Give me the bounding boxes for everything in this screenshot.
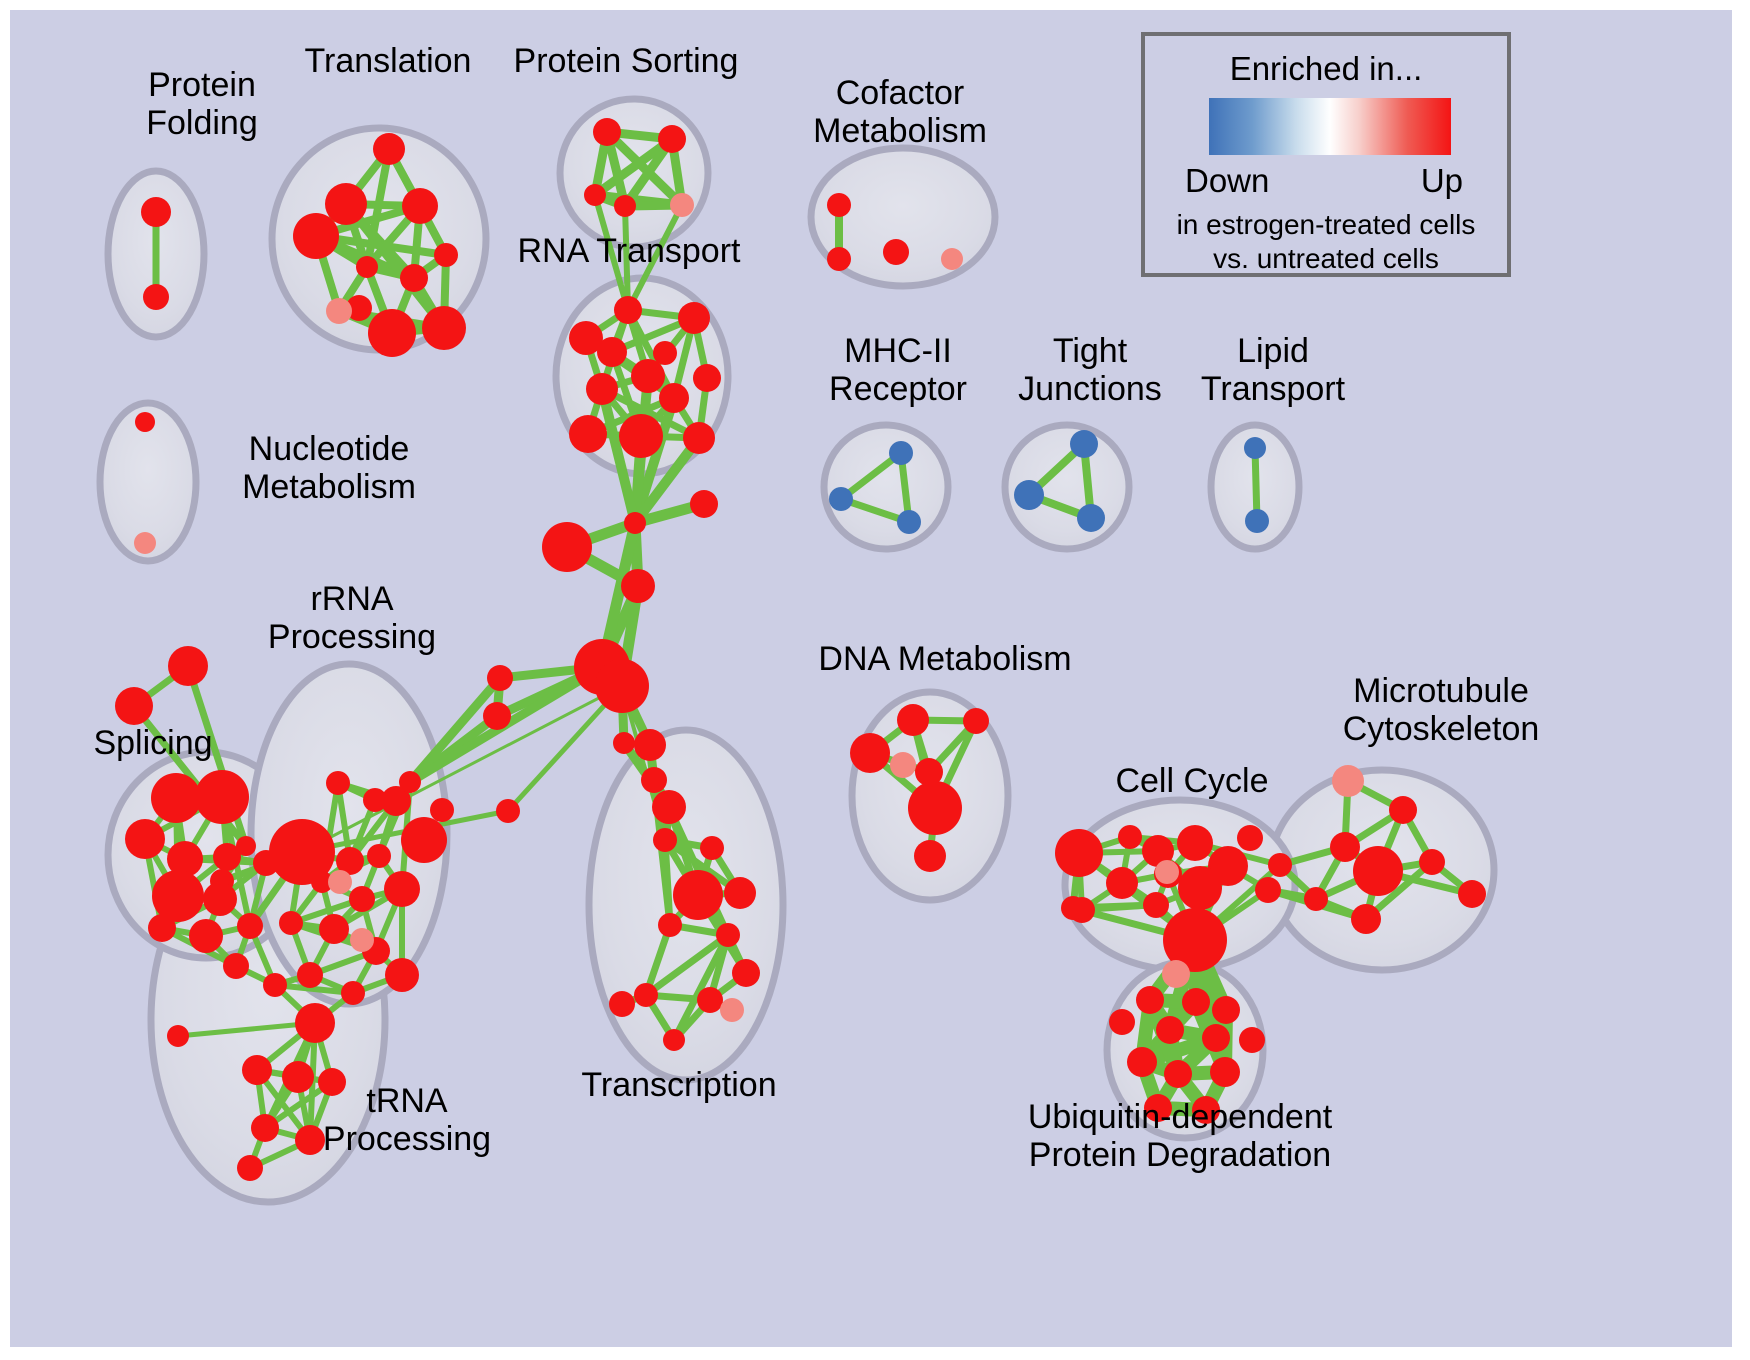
node [349, 886, 375, 912]
cluster-label-nucleotide-metabolism: Nucleotide Metabolism [200, 430, 458, 506]
cluster-label-rrna-processing: rRNA Processing [246, 580, 458, 656]
node [1055, 829, 1103, 877]
node [1070, 430, 1098, 458]
node [1136, 986, 1164, 1014]
node [251, 1114, 279, 1142]
node [941, 248, 963, 270]
node [422, 306, 466, 350]
legend-box: Enriched in... Down Up in estrogen-treat… [1141, 32, 1511, 277]
node [1255, 877, 1281, 903]
node [1419, 849, 1445, 875]
node [697, 987, 723, 1013]
cluster-label-ubiquitin-degradation: Ubiquitin-dependent Protein Degradation [990, 1098, 1370, 1174]
node [631, 359, 665, 393]
node [483, 702, 511, 730]
node [1143, 892, 1169, 918]
cluster-label-rna-transport: RNA Transport [504, 232, 754, 270]
node [328, 870, 352, 894]
node [1155, 860, 1179, 884]
node [914, 840, 946, 872]
node [683, 422, 715, 454]
node [367, 844, 391, 868]
node [269, 819, 335, 885]
node [659, 383, 689, 413]
node [1177, 825, 1213, 861]
node [134, 532, 156, 554]
node [614, 195, 636, 217]
cluster-label-protein-sorting: Protein Sorting [498, 42, 754, 80]
node [385, 958, 419, 992]
cluster-label-cell-cycle: Cell Cycle [1102, 762, 1282, 800]
node [350, 928, 374, 952]
node [487, 665, 513, 691]
node [125, 819, 165, 859]
node [1182, 988, 1210, 1016]
node [641, 767, 667, 793]
node [1332, 765, 1364, 797]
node [897, 704, 929, 736]
node [1014, 480, 1044, 510]
node [1077, 504, 1105, 532]
node [1458, 880, 1486, 908]
node [401, 817, 447, 863]
node [963, 708, 989, 734]
node [1202, 1024, 1230, 1052]
node [732, 959, 760, 987]
cluster-label-cofactor-metabolism: Cofactor Metabolism [778, 74, 1022, 150]
node [542, 522, 592, 572]
node [143, 284, 169, 310]
node [1061, 896, 1085, 920]
hull-mhc-ii-receptor [824, 425, 948, 549]
node [223, 953, 249, 979]
node [293, 213, 339, 259]
figure-root: Protein Folding Translation Protein Sort… [0, 0, 1750, 1360]
node [195, 770, 249, 824]
node [634, 983, 658, 1007]
node [663, 1029, 685, 1051]
node [897, 510, 921, 534]
node [1304, 887, 1328, 911]
node [1268, 853, 1292, 877]
cluster-label-microtubule-cytoskeleton: Microtubule Cytoskeleton [1308, 672, 1574, 748]
node [883, 239, 909, 265]
node [237, 1155, 263, 1181]
node [189, 919, 223, 953]
node [658, 913, 682, 937]
node [237, 913, 263, 939]
network-canvas: Protein Folding Translation Protein Sort… [10, 10, 1732, 1347]
node [115, 687, 153, 725]
node [586, 373, 618, 405]
node [141, 197, 171, 227]
node [399, 771, 421, 793]
node [384, 871, 420, 907]
node [263, 973, 287, 997]
legend-sublabel: in estrogen-treated cells vs. untreated … [1145, 208, 1507, 276]
node [614, 296, 642, 324]
node [148, 914, 176, 942]
node [850, 733, 890, 773]
node [609, 991, 635, 1017]
node [430, 798, 454, 822]
node [203, 882, 237, 916]
legend-low-label: Down [1185, 162, 1269, 200]
node [1156, 1016, 1184, 1044]
node [135, 412, 155, 432]
cluster-label-lipid-transport: Lipid Transport [1170, 332, 1376, 408]
node [653, 828, 677, 852]
cluster-label-trna-processing: tRNA Processing [302, 1082, 512, 1158]
node [621, 569, 655, 603]
node [1239, 1027, 1265, 1053]
node [167, 1025, 189, 1047]
node [279, 911, 303, 935]
node [670, 193, 694, 217]
node [634, 729, 666, 761]
node [1389, 796, 1417, 824]
node [326, 298, 352, 324]
node [693, 364, 721, 392]
node [496, 799, 520, 823]
node [242, 1055, 272, 1085]
node [1351, 904, 1381, 934]
node [1127, 1047, 1157, 1077]
node [356, 256, 378, 278]
node [1109, 1009, 1135, 1035]
cluster-label-dna-metabolism: DNA Metabolism [816, 640, 1074, 678]
node [569, 415, 607, 453]
node [584, 184, 606, 206]
node [624, 512, 646, 534]
node [595, 659, 649, 713]
node [319, 914, 349, 944]
node [434, 243, 458, 267]
hull-protein-sorting [560, 99, 708, 247]
legend-title: Enriched in... [1145, 50, 1507, 88]
node [829, 487, 853, 511]
node [678, 302, 710, 334]
node [827, 247, 851, 271]
node [1212, 996, 1240, 1024]
node [341, 981, 365, 1005]
node [1118, 825, 1142, 849]
cluster-label-mhc-ii-receptor: MHC-II Receptor [792, 332, 1004, 408]
node [213, 843, 241, 871]
node [720, 998, 744, 1022]
node [326, 771, 350, 795]
node [908, 781, 962, 835]
node [1353, 846, 1403, 896]
node [890, 752, 916, 778]
node [700, 836, 724, 860]
cluster-label-translation: Translation [268, 42, 508, 80]
node [653, 341, 677, 365]
node [1178, 866, 1222, 910]
node [724, 877, 756, 909]
node [716, 923, 740, 947]
node [1245, 509, 1269, 533]
node [402, 188, 438, 224]
node [325, 183, 367, 225]
node [619, 414, 663, 458]
cluster-label-tight-junctions: Tight Junctions [992, 332, 1188, 408]
node [690, 490, 718, 518]
node [168, 646, 208, 686]
node [151, 773, 201, 823]
node [652, 790, 686, 824]
node [569, 321, 603, 355]
node [658, 125, 686, 153]
node [593, 118, 621, 146]
node [673, 870, 723, 920]
legend-high-label: Up [1421, 162, 1463, 200]
node [1237, 825, 1263, 851]
node [613, 732, 635, 754]
node [1210, 1057, 1240, 1087]
node [889, 441, 913, 465]
node [827, 193, 851, 217]
node [297, 962, 323, 988]
cluster-label-transcription: Transcription [568, 1066, 790, 1104]
node [295, 1003, 335, 1043]
node [400, 264, 428, 292]
node [368, 309, 416, 357]
node [1330, 832, 1360, 862]
node [373, 133, 405, 165]
node [1164, 1060, 1192, 1088]
color-ramp [1209, 98, 1451, 155]
node [1162, 960, 1190, 988]
node [1106, 867, 1138, 899]
cluster-label-splicing: Splicing [58, 724, 248, 762]
node [1244, 437, 1266, 459]
